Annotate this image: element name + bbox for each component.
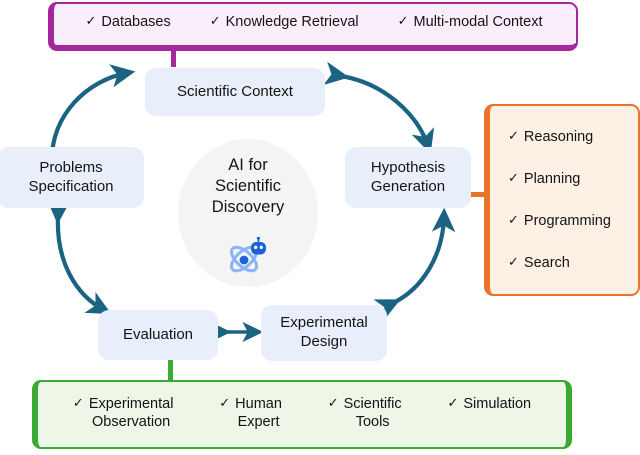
hub-title: AI for Scientific Discovery	[178, 155, 318, 217]
check-icon: ✓	[86, 13, 97, 30]
check-icon: ✓	[447, 395, 458, 412]
center-hub: AI for Scientific Discovery	[178, 139, 318, 287]
check-icon: ✓	[508, 170, 519, 187]
atom-robot-icon	[225, 237, 271, 275]
arrow-problems-evaluation	[58, 216, 104, 310]
context-panel-connector	[171, 45, 176, 67]
check-icon: ✓	[508, 128, 519, 145]
check-icon: ✓	[398, 13, 409, 30]
evidence-item-label: Simulation	[463, 395, 531, 413]
context-item: ✓ Knowledge Retrieval	[210, 13, 359, 31]
context-item-label: Knowledge Retrieval	[226, 13, 359, 31]
capability-item-label: Search	[524, 254, 570, 272]
check-icon: ✓	[219, 395, 230, 412]
evidence-item-label: Human Expert	[235, 395, 282, 431]
capability-item: ✓ Search	[508, 254, 570, 272]
capability-item-label: Programming	[524, 212, 611, 230]
diagram-canvas: ✓ Databases ✓ Knowledge Retrieval ✓ Mult…	[0, 0, 640, 455]
check-icon: ✓	[508, 254, 519, 271]
check-icon: ✓	[328, 395, 339, 412]
arrow-context-hypothesis	[341, 76, 428, 146]
context-resources-panel: ✓ Databases ✓ Knowledge Retrieval ✓ Mult…	[48, 2, 578, 51]
node-experimental-design[interactable]: Experimental Design	[261, 305, 387, 361]
evidence-item-label: Scientific Tools	[344, 395, 402, 431]
check-icon: ✓	[508, 212, 519, 229]
node-scientific-context[interactable]: Scientific Context	[145, 68, 325, 116]
capability-item: ✓ Reasoning	[508, 128, 593, 146]
evaluation-sources-panel: ✓ Experimental Observation ✓ Human Exper…	[32, 380, 572, 449]
capability-item-label: Planning	[524, 170, 580, 188]
robot-head	[251, 237, 266, 255]
arrow-experimental-hypothesis	[393, 216, 444, 303]
evidence-item: ✓ Simulation	[447, 395, 531, 413]
node-hypothesis-generation[interactable]: Hypothesis Generation	[345, 147, 471, 208]
check-icon: ✓	[210, 13, 221, 30]
evidence-item: ✓ Scientific Tools	[328, 395, 402, 431]
capability-item: ✓ Programming	[508, 212, 611, 230]
evidence-item: ✓ Human Expert	[219, 395, 282, 431]
agent-capabilities-panel: ✓ Reasoning ✓ Planning ✓ Programming ✓ S…	[484, 104, 640, 296]
check-icon: ✓	[73, 395, 84, 412]
context-item-label: Databases	[101, 13, 170, 31]
context-item: ✓ Multi-modal Context	[398, 13, 543, 31]
evidence-item-label: Experimental Observation	[89, 395, 174, 431]
node-evaluation[interactable]: Evaluation	[98, 310, 218, 360]
evidence-item: ✓ Experimental Observation	[73, 395, 174, 431]
capability-item: ✓ Planning	[508, 170, 580, 188]
node-problems-specification[interactable]: Problems Specification	[0, 147, 144, 208]
capability-item-label: Reasoning	[524, 128, 593, 146]
context-item-label: Multi-modal Context	[414, 13, 543, 31]
context-item: ✓ Databases	[86, 13, 171, 31]
